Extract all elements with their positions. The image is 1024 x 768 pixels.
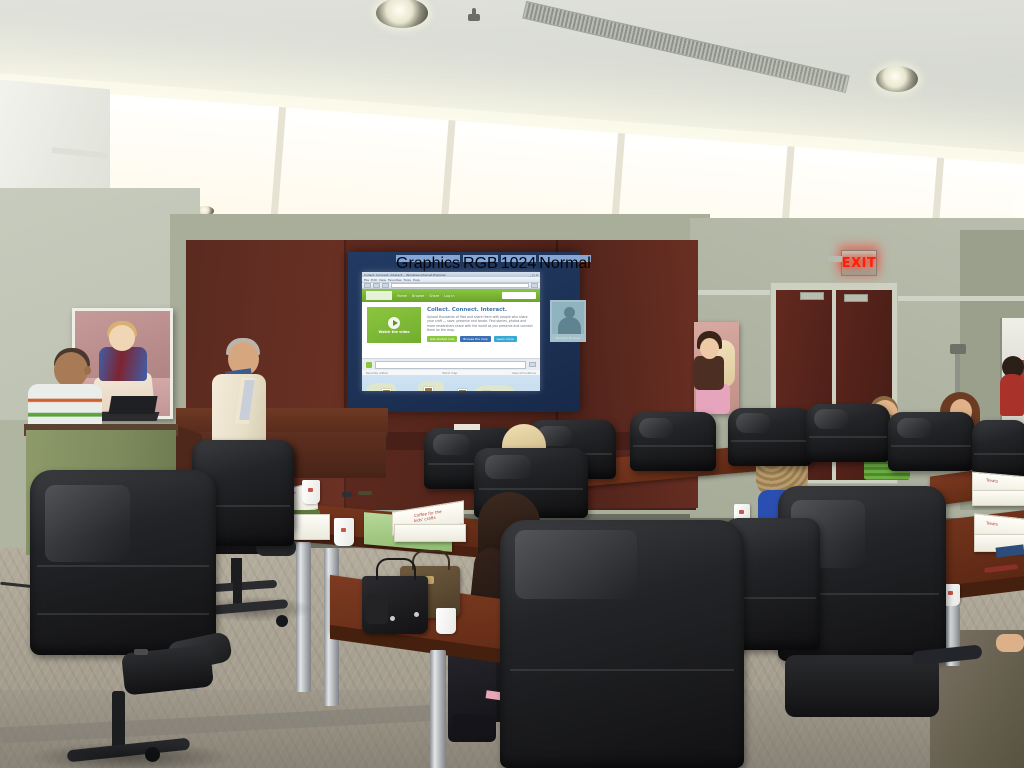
osd-chip: 1024 x 768 [501, 255, 537, 262]
browser-window: Collect. Connect. Interact. - Windows In… [362, 272, 540, 391]
door-closer [844, 294, 868, 302]
nav-item-login[interactable]: Log in [444, 294, 454, 298]
chair-back-4[interactable] [728, 408, 812, 498]
menu-item-favorites[interactable]: Favorites [388, 278, 402, 282]
chair-lever [134, 649, 148, 655]
watch-video-label: Watch the video [378, 330, 409, 334]
forward-icon[interactable] [373, 283, 380, 289]
stand-head [950, 344, 966, 354]
projection-screen: Graphics RGB HD 1024 x 768 Normal Collec… [348, 252, 580, 412]
nav-item-share[interactable]: Share [429, 294, 439, 298]
nav-item-browse[interactable]: Browse [412, 294, 424, 298]
hero-section: Watch the video Collect. Connect. Intera… [362, 302, 540, 358]
site-logo[interactable] [366, 291, 392, 300]
exit-sign-label: EXIT [842, 257, 877, 270]
exit-sign-mount [828, 256, 842, 262]
window-controls[interactable]: _ □ × [529, 273, 538, 277]
nav-item-home[interactable]: Home [397, 294, 407, 298]
address-bar[interactable] [391, 283, 529, 289]
search-icon[interactable] [531, 283, 538, 289]
site-search-input[interactable] [375, 361, 526, 369]
person-attendee-back-right [1000, 356, 1024, 416]
desk-item [342, 492, 352, 497]
chair-foreground-right[interactable] [500, 520, 744, 768]
paper-cup [302, 480, 320, 504]
hero-copy: Collect. Connect. Interact. Upload thous… [427, 307, 535, 353]
map-caption-right[interactable]: View all locations [512, 371, 536, 375]
hand [996, 634, 1024, 652]
play-icon [388, 317, 400, 329]
poster-child-with-bear [694, 322, 739, 414]
handbag-black[interactable] [362, 576, 428, 634]
desk-item [454, 424, 480, 430]
menu-item-tools[interactable]: Tools [404, 278, 411, 282]
chair-foreground-1[interactable] [30, 470, 216, 768]
table-leg [430, 650, 446, 768]
projector-osd: Graphics RGB HD 1024 x 768 Normal [396, 254, 516, 262]
ear [84, 366, 91, 375]
osd-chip: RGB HD [463, 255, 498, 262]
exit-sign: EXIT [841, 250, 877, 276]
map-caption-center: World map [442, 371, 457, 375]
world-map[interactable] [362, 375, 540, 391]
wall-trim [896, 296, 1024, 301]
downlight-icon [876, 66, 918, 92]
site-search-strip [362, 358, 540, 370]
desk-item [358, 491, 372, 495]
chair-back-5[interactable] [806, 404, 890, 494]
site-navbar: Home Browse Share Log in [362, 289, 540, 302]
chair-caster [276, 615, 288, 627]
pin-icon [366, 362, 372, 368]
osd-chip: Graphics [396, 255, 460, 262]
catering-box: Coffee for the kids' crafts [392, 506, 464, 542]
avatar [552, 302, 584, 334]
catering-box: Treats [972, 474, 1024, 506]
get-started-button[interactable]: Get started now [427, 336, 457, 342]
osd-chip: Normal [539, 255, 591, 262]
paper-cup [334, 518, 354, 546]
menu-item-help[interactable]: Help [413, 278, 420, 282]
menu-item-view[interactable]: View [379, 278, 386, 282]
shoe [452, 714, 496, 736]
hero-headline: Collect. Connect. Interact. [427, 307, 535, 313]
nav-search-input[interactable] [502, 292, 536, 299]
wall-trim [690, 290, 782, 295]
menu-item-file[interactable]: File [364, 278, 369, 282]
browse-map-button[interactable]: Browse the map [460, 336, 490, 342]
avatar-card: Member Preview [550, 300, 586, 342]
watch-video-button[interactable]: Watch the video [367, 307, 421, 343]
browser-toolbar [362, 283, 540, 289]
osd-chip-label: Graphics [396, 255, 460, 272]
osd-chip-label: Normal [539, 255, 591, 272]
back-icon[interactable] [364, 283, 371, 289]
hero-buttons: Get started now Browse the map Learn mor… [427, 336, 535, 342]
laptop-screen[interactable] [108, 396, 157, 414]
hero-body-text: Upload thousands of files and share them… [427, 315, 535, 333]
chair-shadow [26, 742, 236, 768]
menu-item-edit[interactable]: Edit [371, 278, 377, 282]
paper-cup [436, 608, 456, 634]
catering-box-line1: Treats [986, 477, 998, 483]
conference-room-photo: EXIT Graphics RGB HD 1024 x 768 Normal C… [0, 0, 1024, 768]
map-caption-left: Recently added [366, 371, 388, 375]
door-closer [800, 292, 824, 300]
learn-more-button[interactable]: Learn more [494, 336, 517, 342]
browser-window-title: Collect. Connect. Interact. - Windows In… [364, 273, 446, 277]
sprinkler-stem [472, 8, 476, 16]
person-presenter-standing [212, 338, 268, 450]
chair-back-3[interactable] [630, 412, 716, 504]
chair-base [233, 558, 242, 604]
avatar-name-label: Member Preview [552, 336, 584, 340]
refresh-icon[interactable] [382, 283, 389, 289]
go-button[interactable] [529, 362, 536, 368]
